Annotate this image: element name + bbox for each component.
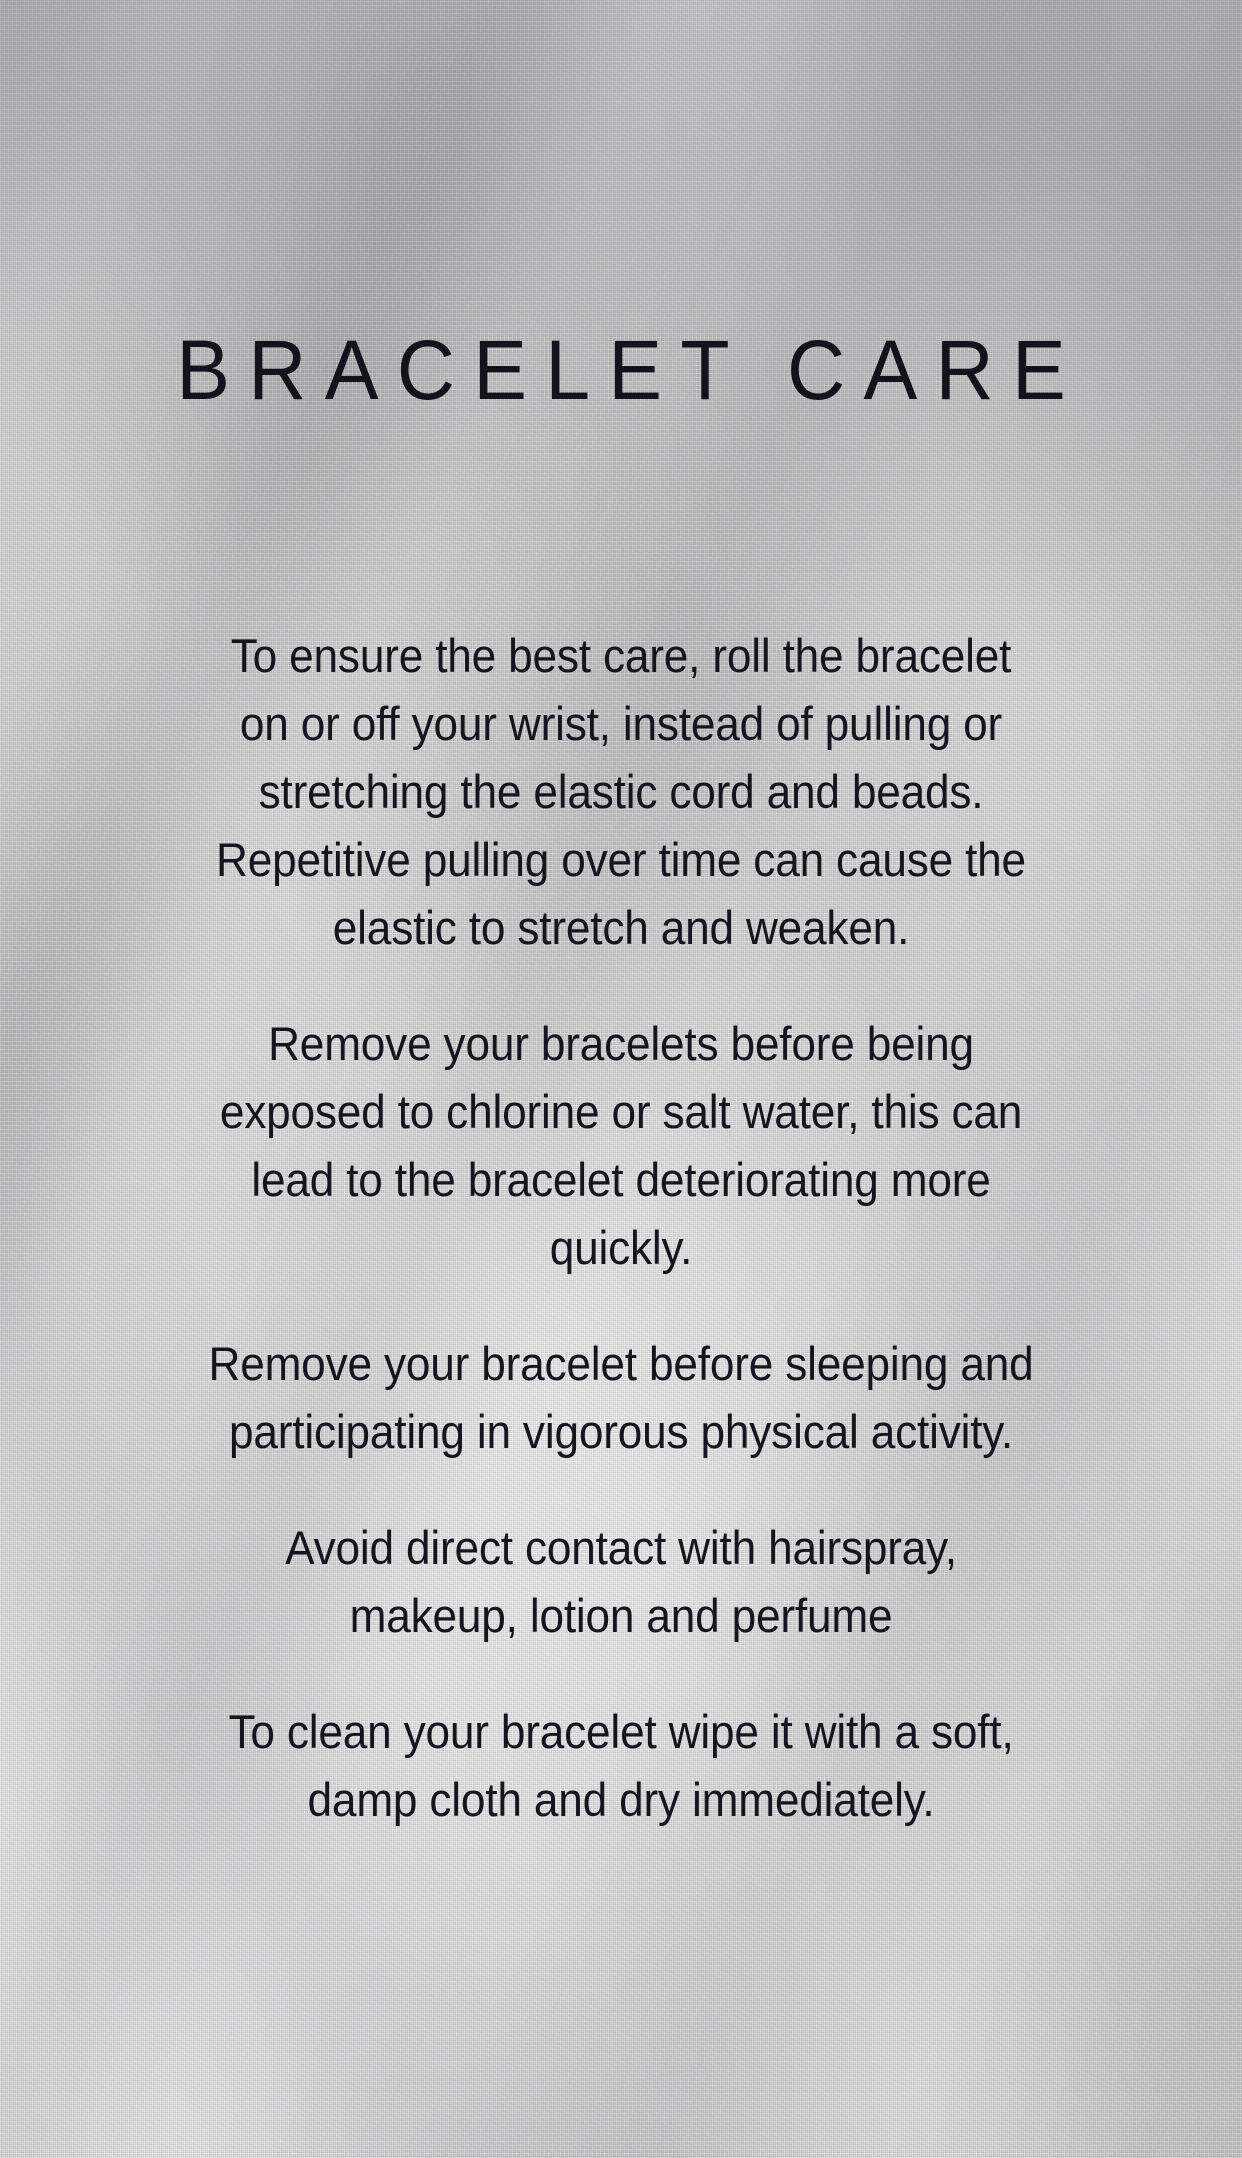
care-paragraph-cosmetics: Avoid direct contact with hairspray, mak… xyxy=(207,1514,1034,1650)
card-content: BRACELET CARE To ensure the best care, r… xyxy=(0,0,1242,2158)
care-instructions: To ensure the best care, roll the bracel… xyxy=(181,622,1061,1834)
page-title: BRACELET CARE xyxy=(25,328,1217,412)
bracelet-care-card: BRACELET CARE To ensure the best care, r… xyxy=(0,0,1242,2158)
care-paragraph-sleep-activity: Remove your bracelet before sleeping and… xyxy=(207,1330,1034,1466)
care-paragraph-cleaning: To clean your bracelet wipe it with a so… xyxy=(207,1698,1034,1834)
care-paragraph-water-exposure: Remove your bracelets before being expos… xyxy=(207,1010,1034,1282)
care-paragraph-rolling: To ensure the best care, roll the bracel… xyxy=(207,622,1034,962)
